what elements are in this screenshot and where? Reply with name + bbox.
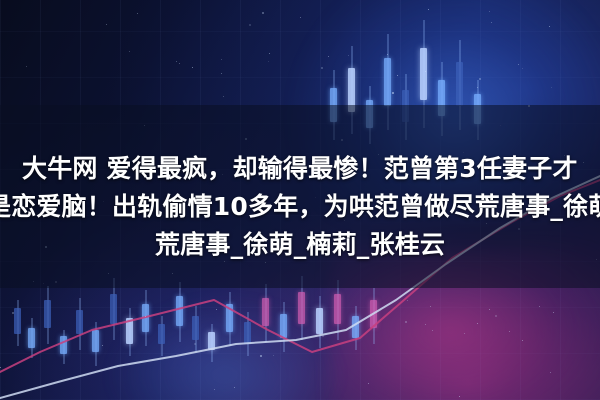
sparkle-dot [405, 321, 407, 323]
sparkle-dot [430, 306, 431, 307]
sparkle-dot [300, 17, 301, 18]
sparkle-dot [551, 87, 552, 88]
sparkle-dot [179, 63, 180, 64]
sparkle-dot [214, 389, 215, 390]
sparkle-dot [0, 367, 1, 368]
sparkle-dot [194, 343, 196, 345]
sparkle-dot [106, 24, 107, 25]
sparkle-dot [348, 55, 349, 56]
headline-line-2: 是恋爱脑！出轨偷情10多年，为哄范曾做尽荒唐事_徐萌_楠莉_张桂云 [0, 188, 600, 226]
sparkle-dot [321, 67, 323, 69]
sparkle-dot [221, 59, 222, 60]
thumbnail-banner: 大牛网 爱得最疯，却输得最惨！范曾第3任妻子才 是恋爱脑！出轨偷情10多年，为哄… [0, 0, 600, 400]
sparkle-dot [489, 11, 490, 12]
sparkle-dot [102, 345, 103, 346]
sparkle-dot [495, 315, 497, 317]
sparkle-dot [268, 61, 269, 62]
sparkle-dot [269, 53, 270, 54]
sparkle-dot [262, 12, 264, 14]
headline-line-1: 大牛网 爱得最疯，却输得最惨！范曾第3任妻子才 [22, 150, 578, 188]
headline-line-3: 荒唐事_徐萌_楠莉_张桂云 [155, 226, 445, 264]
sparkle-dot [553, 312, 554, 313]
sparkle-dot [491, 22, 492, 23]
sparkle-dot [192, 67, 193, 68]
sparkle-dot [522, 68, 523, 69]
sparkle-dot [368, 383, 369, 384]
sparkle-dot [397, 75, 398, 76]
sparkle-dot [407, 300, 408, 301]
sparkle-dot [176, 61, 177, 62]
sparkle-dot [26, 66, 27, 67]
sparkle-dot [129, 51, 130, 52]
sparkle-dot [464, 333, 465, 334]
sparkle-dot [539, 306, 540, 307]
sparkle-dot [518, 64, 519, 65]
sparkle-dot [477, 87, 478, 88]
sparkle-dot [273, 355, 274, 356]
sparkle-dot [145, 316, 146, 317]
sparkle-dot [459, 396, 460, 397]
sparkle-dot [479, 78, 481, 80]
sparkle-dot [221, 73, 222, 74]
sparkle-dot [12, 312, 14, 314]
sparkle-dot [260, 355, 262, 357]
sparkle-dot [509, 331, 510, 332]
sparkle-dot [432, 330, 433, 331]
sparkle-dot [489, 309, 490, 310]
sparkle-dot [549, 26, 550, 27]
sparkle-dot [234, 387, 235, 388]
sparkle-dot [223, 96, 224, 97]
sparkle-dot [425, 324, 426, 325]
sparkle-dot [550, 372, 551, 373]
sparkle-dot [322, 335, 324, 337]
sparkle-dot [387, 54, 388, 55]
sparkle-dot [392, 92, 394, 94]
sparkle-dot [137, 13, 138, 14]
sparkle-dot [328, 56, 329, 57]
sparkle-dot [428, 9, 429, 10]
sparkle-dot [425, 71, 426, 72]
sparkle-dot [522, 340, 523, 341]
sparkle-dot [249, 24, 251, 26]
sparkle-dot [216, 309, 217, 310]
sparkle-dot [477, 323, 478, 324]
headline-block: 大牛网 爱得最疯，却输得最惨！范曾第3任妻子才 是恋爱脑！出轨偷情10多年，为哄… [0, 150, 600, 270]
